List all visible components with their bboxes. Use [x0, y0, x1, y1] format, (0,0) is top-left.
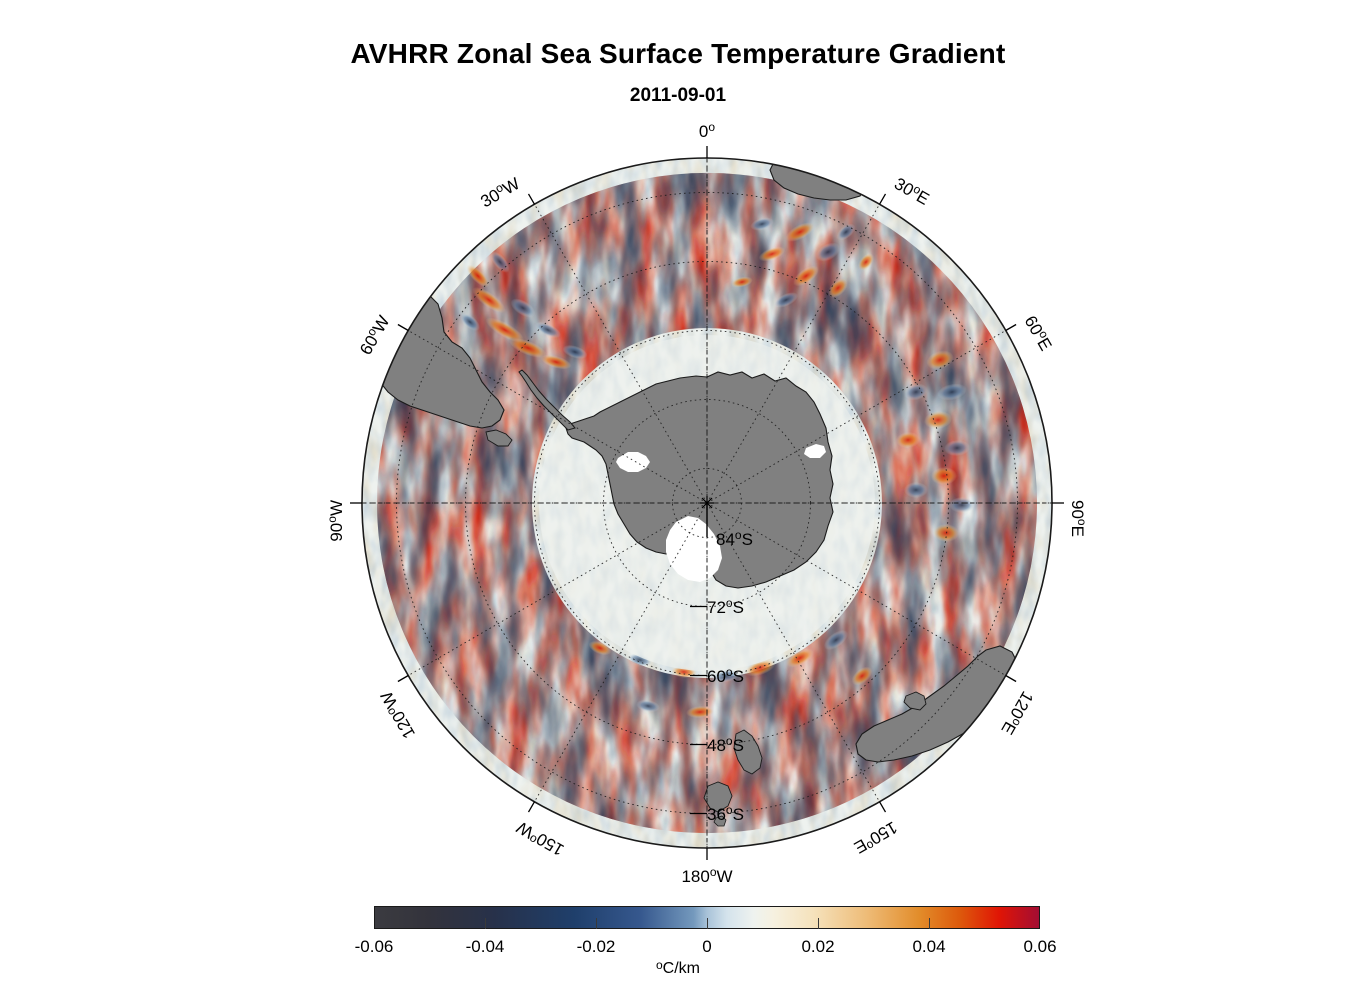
map-svg: 0o 30oE 60oE 90oE 120oE 150oE 180oW 150o…	[0, 0, 1356, 1000]
lon-label-120W: 120oW	[375, 688, 419, 743]
lon-label-120E: 120oE	[997, 688, 1038, 739]
lon-label-150E: 150oE	[851, 818, 902, 859]
colorbar-tick-label-0: -0.06	[334, 937, 414, 957]
figure-canvas: AVHRR Zonal Sea Surface Temperature Grad…	[0, 0, 1356, 1000]
lon-label-150W: 150oW	[513, 818, 568, 862]
colorbar-tick-label-4: 0.02	[778, 937, 858, 957]
lat-label-48S: 48oS	[707, 734, 744, 755]
lon-label-0: 0o	[699, 120, 715, 141]
lat-label-84S: 84oS	[716, 528, 753, 549]
lat-label-60S: 60oS	[707, 665, 744, 686]
lon-label-90W: 90oW	[325, 500, 346, 542]
lon-label-30E: 30oE	[891, 172, 934, 209]
lon-label-30W: 30oW	[476, 172, 523, 211]
polar-map: 0o 30oE 60oE 90oE 120oE 150oE 180oW 150o…	[0, 0, 1356, 1000]
colorbar-tick-label-6: 0.06	[1000, 937, 1080, 957]
colorbar-tick-label-1: -0.04	[445, 937, 525, 957]
colorbar-tick-label-3: 0	[667, 937, 747, 957]
lat-label-72S: 72oS	[707, 596, 744, 617]
colorbar-tick-label-2: -0.02	[556, 937, 636, 957]
colorbar-units-label: oC/km	[0, 960, 1356, 978]
lat-label-36S: 36oS	[707, 803, 744, 824]
lon-label-90E: 90oE	[1068, 500, 1089, 537]
colorbar-tick-label-5: 0.04	[889, 937, 969, 957]
lon-label-180W: 180oW	[681, 865, 732, 886]
lon-label-60E: 60oE	[1021, 312, 1058, 355]
lon-label-60W: 60oW	[354, 312, 393, 359]
